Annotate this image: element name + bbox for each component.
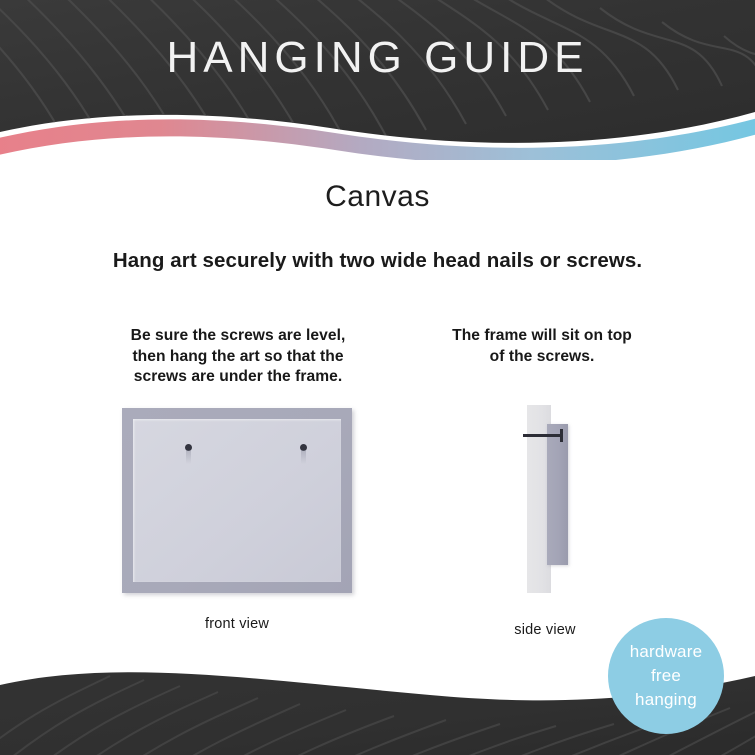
section-heading: Canvas xyxy=(0,178,755,216)
badge-line-3: hanging xyxy=(635,688,697,712)
page-title: HANGING GUIDE xyxy=(0,30,755,86)
side-view-caption-line-2: of the screws. xyxy=(424,347,660,368)
front-view-caption-line-2: then hang the art so that the xyxy=(106,347,370,368)
front-view-label: front view xyxy=(122,614,352,634)
intro-instruction: Hang art securely with two wide head nai… xyxy=(0,247,755,275)
header-banner: HANGING GUIDE xyxy=(0,0,755,160)
front-view-caption: Be sure the screws are level, then hang … xyxy=(106,326,370,388)
side-view-caption: The frame will sit on top of the screws. xyxy=(424,326,660,367)
screw-dot-left-icon xyxy=(185,444,192,451)
front-view-canvas-panel xyxy=(133,419,341,582)
side-view-label: side view xyxy=(480,620,610,640)
badge-line-1: hardware xyxy=(630,640,702,664)
badge-line-2: free xyxy=(651,664,681,688)
front-view-caption-line-1: Be sure the screws are level, xyxy=(106,326,370,347)
side-view-column: The frame will sit on top of the screws. xyxy=(424,326,660,367)
front-view-diagram xyxy=(122,408,352,593)
hanging-guide-page: HANGING GUIDE Canvas Hang art securely w… xyxy=(0,0,755,755)
side-view-diagram xyxy=(515,400,605,600)
hardware-free-hanging-badge: hardware free hanging xyxy=(608,618,724,734)
side-view-caption-line-1: The frame will sit on top xyxy=(424,326,660,347)
side-view-frame xyxy=(547,424,568,565)
screw-dot-right-icon xyxy=(300,444,307,451)
front-view-column: Be sure the screws are level, then hang … xyxy=(106,326,370,388)
side-view-screw-head-icon xyxy=(560,429,563,442)
side-view-screw-shaft-icon xyxy=(523,434,563,437)
front-view-caption-line-3: screws are under the frame. xyxy=(106,367,370,388)
